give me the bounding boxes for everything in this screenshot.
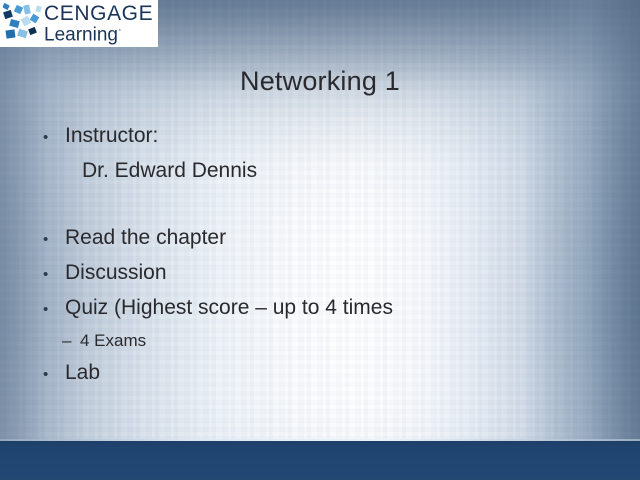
bullet-glyph: •	[38, 121, 65, 154]
bullet-item-instructor: • Instructor:	[38, 119, 610, 154]
bullet-item-quiz: • Quiz (Highest score – up to 4 times	[38, 291, 610, 326]
bullet-item-read-the-chapter: • Read the chapter	[38, 221, 610, 256]
registered-mark: ·	[118, 24, 122, 36]
bullet-text: Dr. Edward Dennis	[82, 154, 257, 187]
bullet-glyph: •	[38, 258, 65, 291]
bullet-item-instructor-name: Dr. Edward Dennis	[38, 154, 610, 187]
slide-title: Networking 1	[0, 66, 640, 97]
content-spacer	[38, 187, 610, 221]
bullet-text: Discussion	[65, 256, 167, 289]
bullet-text: Lab	[65, 356, 100, 389]
bullet-item-lab: • Lab	[38, 356, 610, 391]
dash-glyph: –	[38, 326, 80, 356]
logo-line-learning: Learning·	[44, 25, 158, 44]
bullet-item-discussion: • Discussion	[38, 256, 610, 291]
logo-line-cengage: CENGAGE	[44, 3, 158, 24]
presentation-slide: CENGAGE Learning· Networking 1 • Instruc…	[0, 0, 640, 480]
bullet-text: Read the chapter	[65, 221, 226, 254]
sub-bullet-item-4-exams: – 4 Exams	[38, 326, 610, 356]
cengage-logo-wordmark: CENGAGE Learning·	[44, 1, 158, 44]
sub-bullet-text: 4 Exams	[80, 326, 146, 356]
slide-body-content: • Instructor: Dr. Edward Dennis • Read t…	[38, 119, 610, 391]
cengage-confetti-mark-icon	[3, 3, 45, 45]
cengage-learning-logo: CENGAGE Learning·	[0, 0, 158, 47]
bullet-glyph: •	[38, 358, 65, 391]
bullet-text: Quiz (Highest score – up to 4 times	[65, 291, 393, 324]
footer-band	[0, 441, 640, 480]
bullet-glyph: •	[38, 293, 65, 326]
bullet-text: Instructor:	[65, 119, 158, 152]
bullet-glyph: •	[38, 223, 65, 256]
